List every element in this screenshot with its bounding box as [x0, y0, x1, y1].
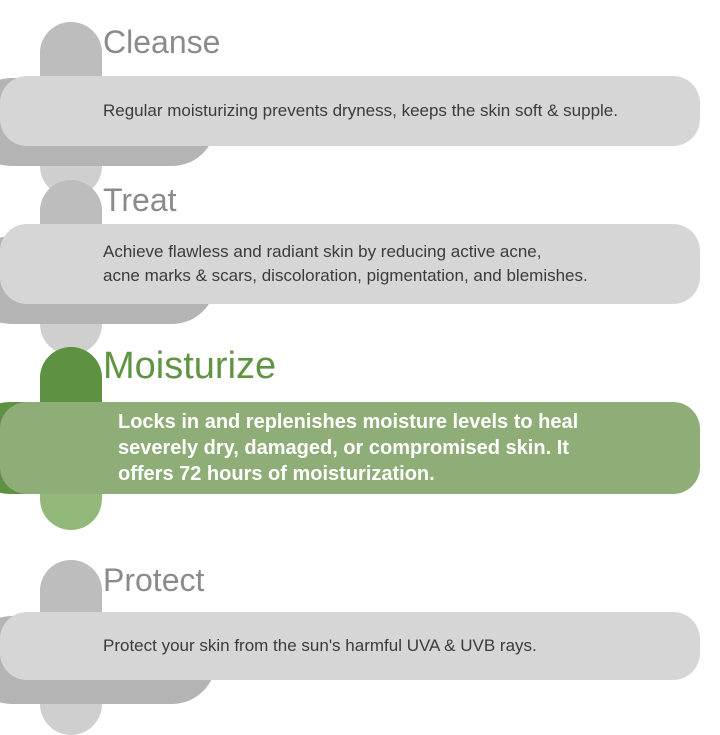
step-title-3: Moisturize	[103, 345, 276, 388]
step-description-1: Regular moisturizing prevents dryness, k…	[0, 99, 618, 123]
step-description-bar-4: Protect your skin from the sun's harmful…	[0, 612, 700, 680]
step-description-bar-1: Regular moisturizing prevents dryness, k…	[0, 76, 700, 146]
step-description-bar-3: Locks in and replenishes moisture levels…	[0, 402, 700, 494]
step-description-2: Achieve flawless and radiant skin by red…	[0, 240, 588, 288]
step-description-3: Locks in and replenishes moisture levels…	[0, 409, 578, 487]
step-title-4: Protect	[103, 562, 204, 599]
step-title-1: Cleanse	[103, 24, 220, 61]
step-description-4: Protect your skin from the sun's harmful…	[0, 634, 537, 658]
skincare-steps-infographic: 1 Cleanse Regular moisturizing prevents …	[0, 0, 720, 720]
step-title-2: Treat	[103, 182, 177, 219]
step-description-bar-2: Achieve flawless and radiant skin by red…	[0, 224, 700, 304]
